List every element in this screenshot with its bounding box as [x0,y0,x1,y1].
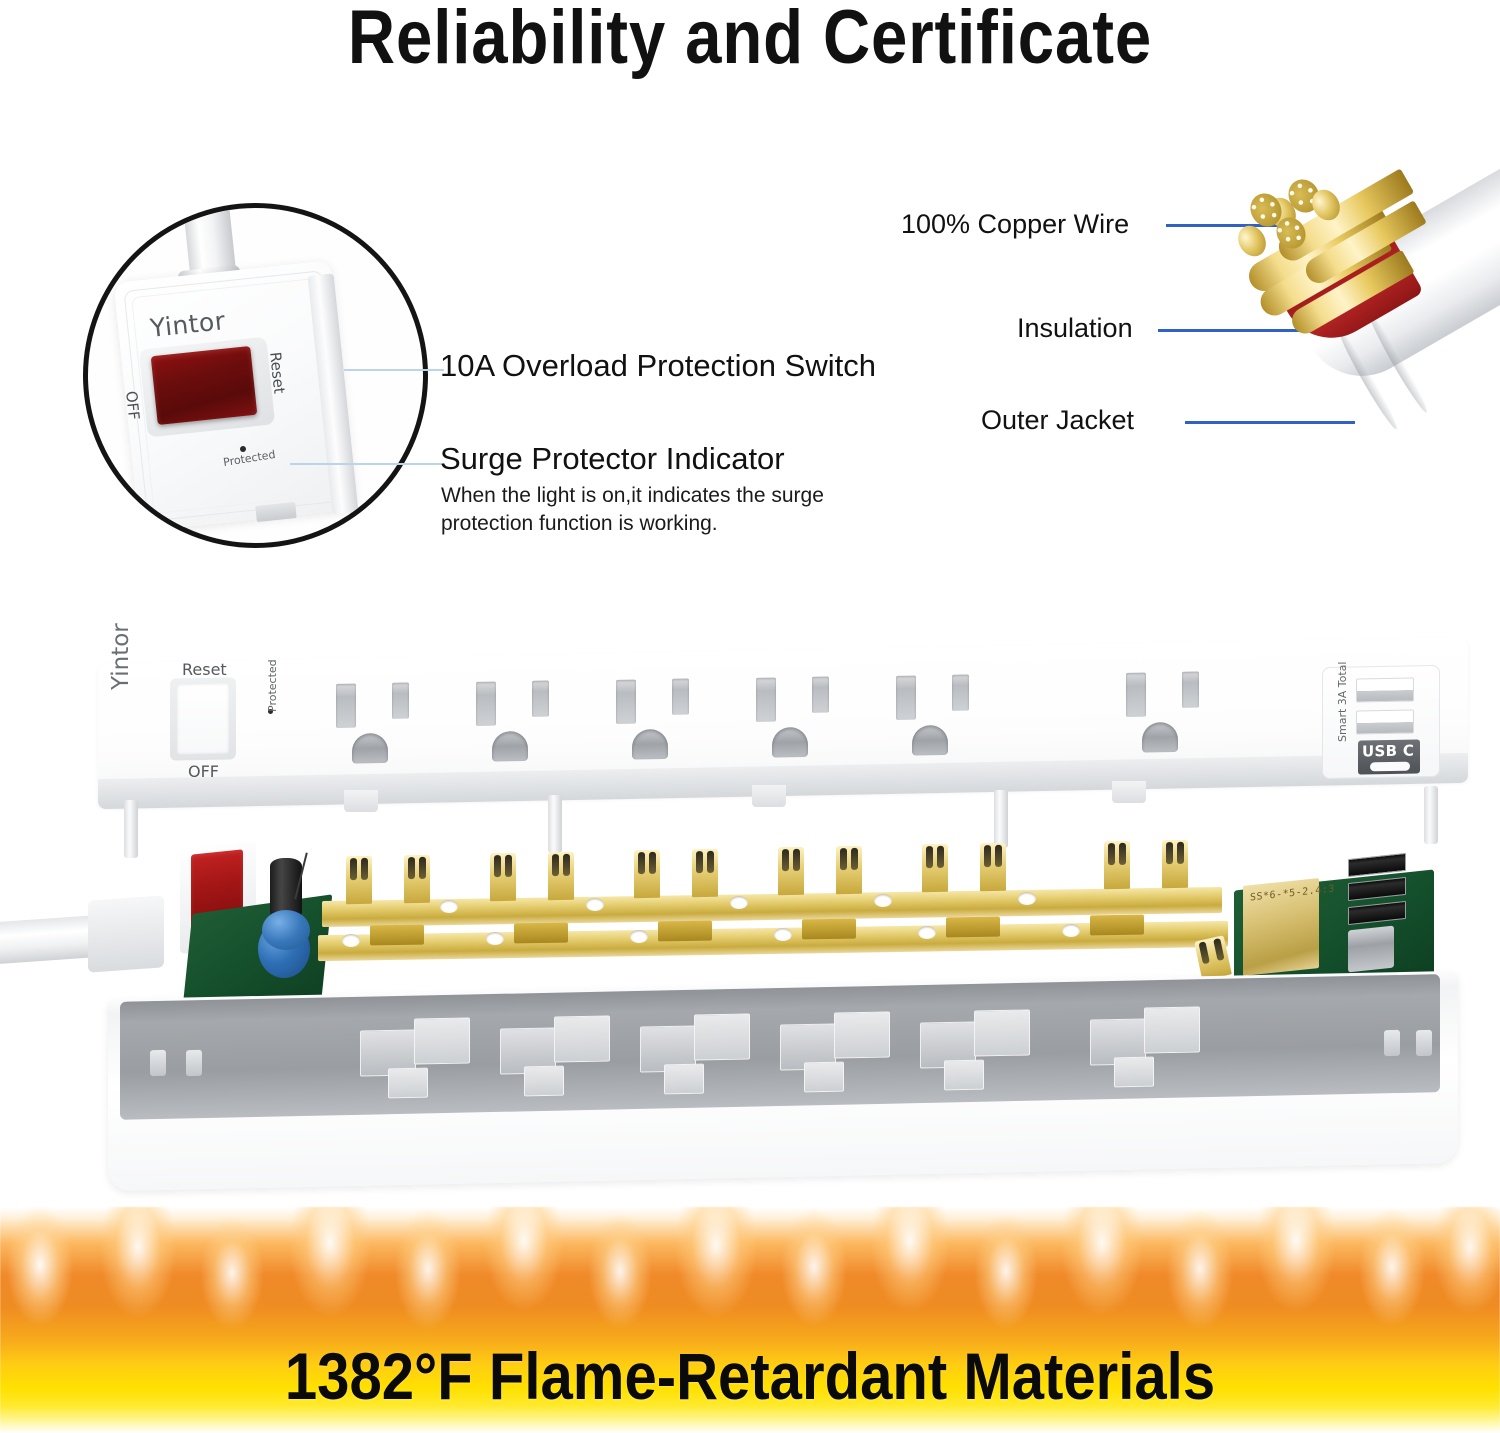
busbar-hole [342,934,360,947]
shell-socket-mount [414,1017,470,1064]
switch-closeup-inset: Yintor Reset OFF Protected [83,203,428,548]
outlet-ground-hole [492,731,528,762]
strip-mounting-leg [1424,786,1438,844]
outlet-hot-slot [392,683,409,719]
busbar-hole [1062,924,1080,937]
copper-strand-group [1237,181,1427,361]
outlet-hot-slot [672,679,689,715]
busbar-hole [486,932,504,945]
outlet-neutral-slot [336,684,356,728]
shell-socket-mount [388,1068,428,1099]
outlet-socket[interactable] [1120,671,1228,755]
strip-reset-label: Reset [182,660,227,679]
busbar-contact-pad [1090,915,1144,936]
strip-off-label: OFF [188,762,219,781]
callout-overload-title: 10A Overload Protection Switch [440,348,876,384]
busbar-hole [918,926,936,939]
outlet-neutral-slot [756,678,776,722]
label-insulation: Insulation [1017,313,1133,344]
outlet-contact-clip [346,856,372,904]
strip-alignment-tab [344,790,378,812]
usb-a-port[interactable] [1356,709,1414,734]
usb-c-label: USB C [1362,741,1414,760]
outlet-ground-hole [912,725,948,756]
busbar-contact-pad [370,925,424,946]
shell-socket-mount [1114,1057,1154,1088]
outlet-hot-slot [1182,672,1199,708]
outlet-ground-hole [1142,722,1178,753]
shell-screw-post [150,1050,166,1076]
usb-c-connector [1348,926,1394,973]
busbar-hole [774,928,792,941]
callout-surge-description: When the light is on,it indicates the su… [441,482,911,537]
shell-socket-mount [804,1062,844,1093]
shell-screw-post [1416,1030,1432,1056]
outlet-socket[interactable] [610,678,718,762]
outlet-hot-slot [532,681,549,717]
outlet-contact-clip [778,847,804,895]
cord-strain-relief [88,895,164,972]
page-title: Reliability and Certificate [105,0,1395,81]
busbar-hole [630,930,648,943]
outlet-socket[interactable] [470,680,578,764]
outlet-socket[interactable] [330,682,438,766]
outlet-contact-clip [922,844,948,892]
strip-mounting-leg [548,795,562,853]
shell-socket-mount [664,1064,704,1095]
outlet-contact-clip [1104,841,1130,889]
strip-alignment-tab [752,785,786,807]
usb-a-port[interactable] [1356,677,1414,702]
shell-socket-mount [1144,1006,1200,1053]
busbar-hole [586,898,604,911]
leader-line-surge [290,463,444,465]
outlet-ground-hole [352,733,388,764]
inset-mounting-foot [255,502,296,522]
shell-socket-mount [554,1015,610,1062]
shell-screw-post [186,1050,202,1076]
outlet-contact-clip [836,846,862,894]
strip-power-switch[interactable] [177,684,229,755]
outlet-contact-clip [548,852,574,900]
busbar-contact-pad [658,921,712,942]
inset-off-label: OFF [122,390,143,421]
outlet-contact-clip [634,850,660,898]
outlet-neutral-slot [616,680,636,724]
shell-socket-mount [694,1013,750,1060]
shell-socket-mount [834,1011,890,1058]
shell-socket-mount [974,1009,1030,1056]
outlet-neutral-slot [896,676,916,720]
outlet-ground-hole [772,727,808,758]
busbar-hole [874,894,892,907]
busbar-hole [1018,892,1036,905]
strip-alignment-tab [1112,781,1146,803]
callout-surge-title: Surge Protector Indicator [440,441,785,477]
leader-line-overload [344,369,444,371]
shell-socket-mount [524,1066,564,1097]
usb-smart-output-label: Smart 3A Total [1336,662,1349,742]
busbar-contact-pad [514,923,568,944]
busbar-contact-pad [802,919,856,940]
label-outer-jacket: Outer Jacket [981,405,1134,436]
strip-mounting-leg [994,790,1008,848]
outlet-hot-slot [812,677,829,713]
shell-screw-post [1384,1030,1400,1056]
outlet-socket[interactable] [890,674,998,758]
strip-mounting-leg [124,800,138,858]
usb-c-slot [1370,762,1410,772]
strip-brand-logo: Yintor [108,623,134,690]
shell-socket-mount [944,1060,984,1091]
busbar-contact-pad [946,917,1000,938]
busbar-hole [730,896,748,909]
inset-red-rocker-switch[interactable] [151,346,258,425]
outlet-contact-clip [490,853,516,901]
busbar-hole [440,900,458,913]
outlet-hot-slot [952,675,969,711]
mov-varistor-blue [262,910,310,950]
outlet-contact-clip [1162,840,1188,888]
strip-protected-label: Protected [266,659,279,712]
outlet-contact-clip [980,843,1006,891]
flame-retardant-caption: 1382°F Flame-Retardant Materials [90,1338,1410,1414]
wire-cross-section-diagram [1215,163,1500,518]
outlet-neutral-slot [1126,673,1146,717]
outlet-contact-clip [404,855,430,903]
label-copper-wire: 100% Copper Wire [901,209,1129,240]
outlet-socket[interactable] [750,676,858,760]
outlet-neutral-slot [476,682,496,726]
inset-protected-led [240,446,246,452]
outlet-contact-clip [692,849,718,897]
outlet-ground-hole [632,729,668,760]
